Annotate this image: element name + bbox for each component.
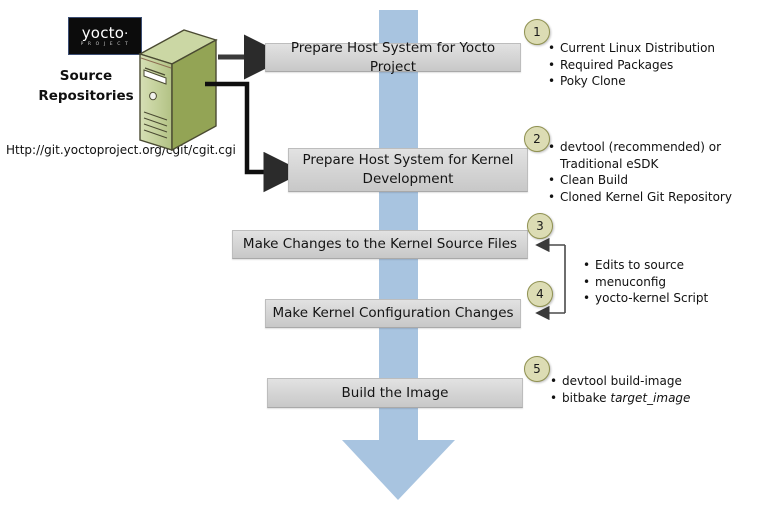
list-item: yocto-kernel Script xyxy=(583,290,708,307)
step-5-box-label: Build the Image xyxy=(342,384,449,403)
step-2-bullets: devtool (recommended) or Traditional eSD… xyxy=(548,139,732,205)
source-repositories-line1: Source xyxy=(30,66,142,86)
yocto-logo-subtitle: P R O J E C T xyxy=(81,43,130,48)
list-item: devtool (recommended) or Traditional eSD… xyxy=(548,139,732,172)
step-badge-5: 5 xyxy=(524,356,550,382)
list-item: devtool build-image xyxy=(550,373,690,390)
step-1-box-label: Prepare Host System for Yocto Project xyxy=(266,39,520,77)
step-badge-4: 4 xyxy=(527,281,553,307)
step-4-box-label: Make Kernel Configuration Changes xyxy=(272,304,513,323)
step-4-box[interactable]: Make Kernel Configuration Changes xyxy=(265,299,521,328)
step-5-box[interactable]: Build the Image xyxy=(267,378,523,408)
step-badge-3: 3 xyxy=(527,213,553,239)
step-5-bullet-2-prefix: bitbake xyxy=(562,391,610,405)
server-icon xyxy=(136,26,220,154)
list-item: Edits to source xyxy=(583,257,708,274)
step-1-bullet-2: Required Packages xyxy=(560,58,673,72)
step-badge-2: 2 xyxy=(524,126,550,152)
source-repositories-line2: Repositories xyxy=(30,86,142,106)
yocto-logo-wordmark: yocto· xyxy=(82,25,129,41)
step-2-bullet-2: Clean Build xyxy=(560,173,628,187)
step-2-bullet-1: devtool (recommended) or xyxy=(560,140,721,154)
yocto-logo-dot: · xyxy=(124,27,128,42)
step-2-box-line2: Development xyxy=(363,171,454,187)
yocto-logo-word: yocto xyxy=(82,24,124,42)
yocto-project-logo: yocto· P R O J E C T xyxy=(68,17,142,55)
step-3-box-label: Make Changes to the Kernel Source Files xyxy=(243,235,517,254)
list-item: Cloned Kernel Git Repository xyxy=(548,189,732,206)
step-2-box-line1: Prepare Host System for Kernel xyxy=(302,152,513,168)
step-3-4-bullets: Edits to source menuconfig yocto-kernel … xyxy=(583,257,708,307)
step-2-box[interactable]: Prepare Host System for Kernel Developme… xyxy=(288,148,528,192)
step-2-bullet-3: Cloned Kernel Git Repository xyxy=(560,190,732,204)
step-5-bullet-1: devtool build-image xyxy=(562,374,682,388)
step-2-bullet-1-continued: Traditional eSDK xyxy=(560,156,732,173)
step-1-box[interactable]: Prepare Host System for Yocto Project xyxy=(265,43,521,72)
step-2-box-label: Prepare Host System for Kernel Developme… xyxy=(302,151,513,189)
step-1-bullets: Current Linux Distribution Required Pack… xyxy=(548,40,715,90)
step-badge-1: 1 xyxy=(524,19,550,45)
list-item: bitbake target_image xyxy=(550,390,690,407)
step-3-box[interactable]: Make Changes to the Kernel Source Files xyxy=(232,230,528,259)
list-item: Required Packages xyxy=(548,57,715,74)
step-1-bullet-1: Current Linux Distribution xyxy=(560,41,715,55)
list-item: Clean Build xyxy=(548,172,732,189)
step-5-bullet-2-variable: target_image xyxy=(610,391,690,405)
step-34-bullet-3: yocto-kernel Script xyxy=(595,291,708,305)
list-item: menuconfig xyxy=(583,274,708,291)
step-34-bullet-1: Edits to source xyxy=(595,258,684,272)
step-1-bullet-3: Poky Clone xyxy=(560,74,626,88)
list-item: Current Linux Distribution xyxy=(548,40,715,57)
list-item: Poky Clone xyxy=(548,73,715,90)
step-34-bullet-2: menuconfig xyxy=(595,275,666,289)
step-5-bullets: devtool build-image bitbake target_image xyxy=(550,373,690,406)
source-repositories-label: Source Repositories xyxy=(30,66,142,106)
diagram-canvas: yocto· P R O J E C T Source Repositories… xyxy=(0,0,769,517)
